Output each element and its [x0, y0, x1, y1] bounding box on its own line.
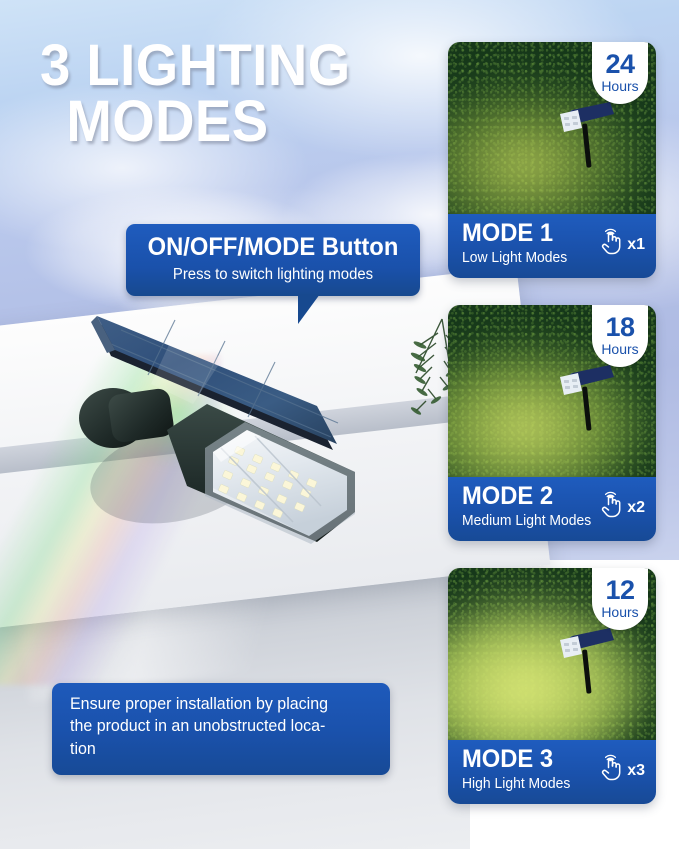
callout-subtitle: Press to switch lighting modes — [132, 266, 414, 284]
tap-count: x3 — [627, 762, 645, 780]
callout-title: ON/OFF/MODE Button — [133, 233, 412, 262]
tap-hand-icon — [599, 753, 625, 788]
mini-solar-light-icon — [556, 98, 618, 172]
mode-footer: MODE 3 High Light Modes x — [448, 740, 656, 804]
mode-card[interactable]: 18 Hours MODE 2 Medium Light Modes — [448, 305, 656, 541]
callout-pointer — [298, 294, 320, 324]
hours-number: 12 — [605, 578, 634, 604]
tap-hand-icon — [599, 490, 625, 525]
tap-indicator: x3 — [599, 753, 645, 788]
mode-footer: MODE 2 Medium Light Modes — [448, 477, 656, 541]
hours-number: 18 — [605, 315, 634, 341]
hours-number: 24 — [605, 52, 634, 78]
tap-count: x1 — [627, 236, 645, 254]
hours-label: Hours — [601, 604, 638, 620]
hours-label: Hours — [601, 78, 638, 94]
hours-label: Hours — [601, 341, 638, 357]
mode-card[interactable]: 24 Hours MODE 1 Low Light Modes — [448, 42, 656, 278]
tap-indicator: x1 — [599, 227, 645, 262]
installation-note-text: Ensure proper installation by placing th… — [70, 693, 365, 760]
tap-indicator: x2 — [599, 490, 645, 525]
headline-line-2: MODES — [66, 94, 416, 150]
tap-count: x2 — [627, 499, 645, 517]
product-solar-wall-light — [55, 300, 425, 600]
callout-onoffmode: ON/OFF/MODE Button Press to switch light… — [126, 224, 420, 296]
infographic-page: 3 LIGHTING MODES — [0, 0, 679, 849]
hours-badge: 12 Hours — [592, 568, 648, 630]
mode-footer: MODE 1 Low Light Modes x1 — [448, 214, 656, 278]
mode-card[interactable]: 12 Hours MODE 3 High Light Modes — [448, 568, 656, 804]
mini-solar-light-icon — [556, 361, 618, 435]
hours-badge: 18 Hours — [592, 305, 648, 367]
hours-badge: 24 Hours — [592, 42, 648, 104]
mini-solar-light-icon — [556, 624, 618, 698]
tap-hand-icon — [599, 227, 625, 262]
page-title: 3 LIGHTING MODES — [40, 38, 416, 149]
installation-note-box: Ensure proper installation by placing th… — [52, 683, 390, 775]
